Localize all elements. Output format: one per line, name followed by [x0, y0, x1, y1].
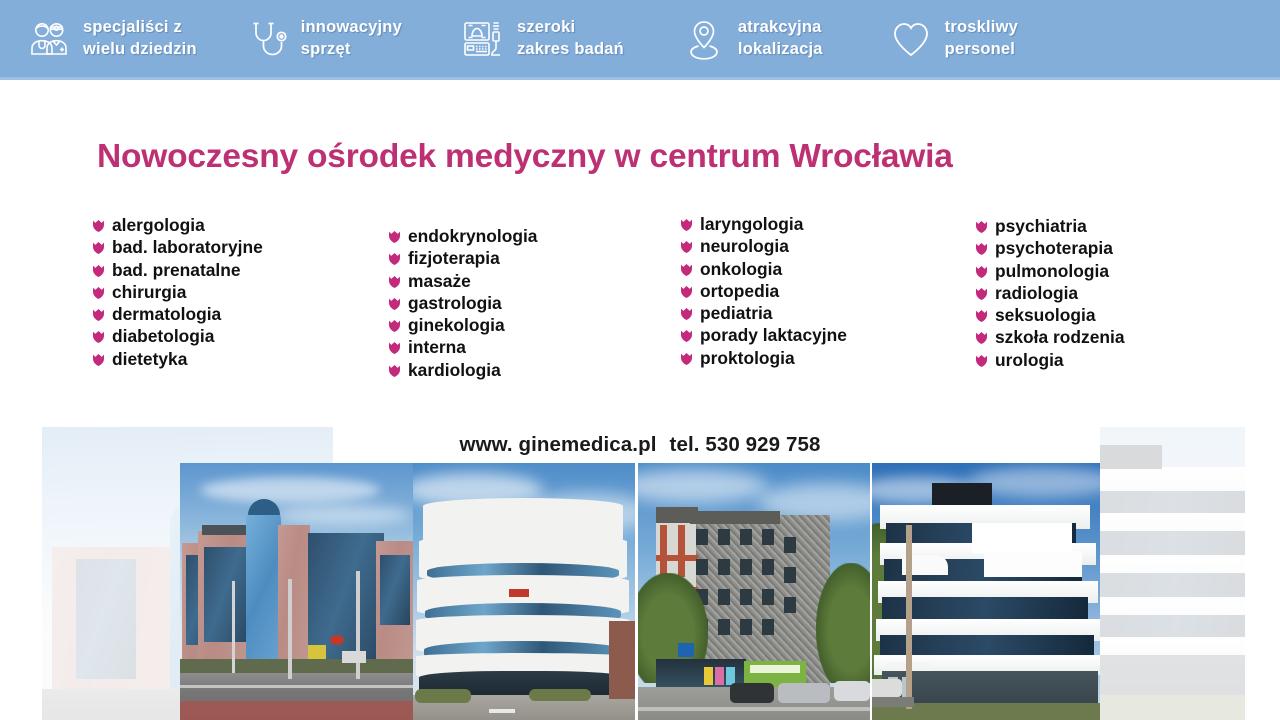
- service-item[interactable]: onkologia: [680, 258, 847, 280]
- service-label: szkoła rodzenia: [995, 326, 1125, 348]
- heart-icon: [888, 16, 934, 62]
- service-label: dietetyka: [112, 348, 187, 370]
- service-label: ortopedia: [700, 280, 779, 302]
- map-pin-icon: [681, 16, 727, 62]
- feature-location: atrakcyjna lokalizacja: [681, 0, 823, 77]
- tulip-bullet-icon: [680, 329, 693, 342]
- ultrasound-machine-icon: [460, 16, 506, 62]
- service-label: alergologia: [112, 214, 205, 236]
- tulip-bullet-icon: [92, 241, 105, 254]
- service-label: neurologia: [700, 235, 789, 257]
- service-label: porady laktacyjne: [700, 324, 847, 346]
- tulip-bullet-icon: [92, 286, 105, 299]
- services-column-3: laryngologia neurologia onkologia ortope…: [680, 213, 847, 369]
- service-item[interactable]: laryngologia: [680, 213, 847, 235]
- poster-page: specjaliści z wielu dziedzin innowacyjny…: [0, 0, 1280, 720]
- tulip-bullet-icon: [388, 297, 401, 310]
- service-label: pulmonologia: [995, 260, 1109, 282]
- tulip-bullet-icon: [388, 252, 401, 265]
- phone-text[interactable]: tel. 530 929 758: [670, 433, 821, 457]
- service-item[interactable]: radiologia: [975, 282, 1125, 304]
- service-label: bad. prenatalne: [112, 259, 241, 281]
- tulip-bullet-icon: [92, 330, 105, 343]
- service-label: seksuologia: [995, 304, 1096, 326]
- stethoscope-icon: [244, 16, 290, 62]
- feature-label: innowacyjny sprzęt: [301, 17, 402, 59]
- service-item[interactable]: kardiologia: [388, 359, 537, 381]
- tulip-bullet-icon: [92, 353, 105, 366]
- service-item[interactable]: proktologia: [680, 347, 847, 369]
- services-column-1: alergologia bad. laboratoryjne bad. pren…: [92, 214, 263, 370]
- services-column-4: psychiatria psychoterapia pulmonologia r…: [975, 215, 1125, 371]
- service-label: fizjoterapia: [408, 247, 500, 269]
- service-item[interactable]: seksuologia: [975, 304, 1125, 326]
- photo-grey-stone-apartment-building: [638, 463, 870, 720]
- photo-red-brick-office-building: [180, 463, 413, 720]
- tulip-bullet-icon: [680, 240, 693, 253]
- tulip-bullet-icon: [680, 352, 693, 365]
- service-item[interactable]: bad. prenatalne: [92, 259, 263, 281]
- tulip-bullet-icon: [680, 307, 693, 320]
- service-item[interactable]: ginekologia: [388, 314, 537, 336]
- service-label: interna: [408, 336, 466, 358]
- service-item[interactable]: diabetologia: [92, 325, 263, 347]
- service-label: radiologia: [995, 282, 1078, 304]
- tulip-bullet-icon: [680, 218, 693, 231]
- tulip-bullet-icon: [92, 264, 105, 277]
- photo-round-white-building: [413, 463, 635, 720]
- tulip-bullet-icon: [975, 242, 988, 255]
- tulip-bullet-icon: [975, 220, 988, 233]
- service-item[interactable]: psychoterapia: [975, 237, 1125, 259]
- feature-label: specjaliści z wielu dziedzin: [83, 17, 197, 59]
- service-label: urologia: [995, 349, 1064, 371]
- service-label: onkologia: [700, 258, 782, 280]
- service-label: kardiologia: [408, 359, 501, 381]
- feature-bar: specjaliści z wielu dziedzin innowacyjny…: [0, 0, 1280, 80]
- feature-scope: szeroki zakres badań: [460, 0, 624, 77]
- services-list: alergologia bad. laboratoryjne bad. pren…: [0, 214, 1280, 384]
- feature-label: atrakcyjna lokalizacja: [738, 17, 823, 59]
- service-label: proktologia: [700, 347, 795, 369]
- service-label: ginekologia: [408, 314, 505, 336]
- tulip-bullet-icon: [975, 265, 988, 278]
- tulip-bullet-icon: [388, 364, 401, 377]
- service-item[interactable]: pediatria: [680, 302, 847, 324]
- photo-white-modern-clinic: [872, 463, 1100, 720]
- service-item[interactable]: dermatologia: [92, 303, 263, 325]
- service-item[interactable]: fizjoterapia: [388, 247, 537, 269]
- service-item[interactable]: gastrologia: [388, 292, 537, 314]
- service-item[interactable]: interna: [388, 336, 537, 358]
- service-item[interactable]: ortopedia: [680, 280, 847, 302]
- tulip-bullet-icon: [975, 309, 988, 322]
- service-item[interactable]: porady laktacyjne: [680, 324, 847, 346]
- tulip-bullet-icon: [975, 287, 988, 300]
- tulip-bullet-icon: [975, 354, 988, 367]
- two-doctors-icon: [26, 16, 72, 62]
- tulip-bullet-icon: [388, 319, 401, 332]
- page-title: Nowoczesny ośrodek medyczny w centrum Wr…: [97, 138, 953, 176]
- service-label: pediatria: [700, 302, 772, 324]
- feature-staff: troskliwy personel: [888, 0, 1018, 77]
- service-item[interactable]: dietetyka: [92, 348, 263, 370]
- service-item[interactable]: endokrynologia: [388, 225, 537, 247]
- service-label: masaże: [408, 270, 471, 292]
- service-label: endokrynologia: [408, 225, 537, 247]
- service-item[interactable]: psychiatria: [975, 215, 1125, 237]
- feature-label: szeroki zakres badań: [517, 17, 624, 59]
- service-label: chirurgia: [112, 281, 186, 303]
- photo-strip: www. ginemedica.pl tel. 530 929 758: [0, 420, 1280, 720]
- service-item[interactable]: bad. laboratoryjne: [92, 236, 263, 258]
- feature-equipment: innowacyjny sprzęt: [244, 0, 402, 77]
- service-label: laryngologia: [700, 213, 803, 235]
- tulip-bullet-icon: [388, 341, 401, 354]
- service-label: bad. laboratoryjne: [112, 236, 263, 258]
- tulip-bullet-icon: [388, 275, 401, 288]
- services-column-2: endokrynologia fizjoterapia masaże gastr…: [388, 225, 537, 381]
- feature-specialists: specjaliści z wielu dziedzin: [26, 0, 197, 77]
- service-label: psychoterapia: [995, 237, 1113, 259]
- service-label: diabetologia: [112, 325, 214, 347]
- tulip-bullet-icon: [92, 308, 105, 321]
- tulip-bullet-icon: [92, 219, 105, 232]
- tulip-bullet-icon: [975, 331, 988, 344]
- service-item[interactable]: alergologia: [92, 214, 263, 236]
- service-item[interactable]: chirurgia: [92, 281, 263, 303]
- service-label: dermatologia: [112, 303, 221, 325]
- service-label: psychiatria: [995, 215, 1087, 237]
- service-label: gastrologia: [408, 292, 502, 314]
- service-item[interactable]: neurologia: [680, 235, 847, 257]
- service-item[interactable]: urologia: [975, 349, 1125, 371]
- service-item[interactable]: masaże: [388, 270, 537, 292]
- tulip-bullet-icon: [680, 285, 693, 298]
- website-text[interactable]: www. ginemedica.pl: [460, 433, 657, 457]
- contact-band: www. ginemedica.pl tel. 530 929 758: [333, 427, 947, 463]
- service-item[interactable]: pulmonologia: [975, 260, 1125, 282]
- feature-label: troskliwy personel: [945, 17, 1018, 59]
- tulip-bullet-icon: [680, 263, 693, 276]
- photo-white-modern-clinic-faded: [1100, 427, 1245, 720]
- tulip-bullet-icon: [388, 230, 401, 243]
- service-item[interactable]: szkoła rodzenia: [975, 326, 1125, 348]
